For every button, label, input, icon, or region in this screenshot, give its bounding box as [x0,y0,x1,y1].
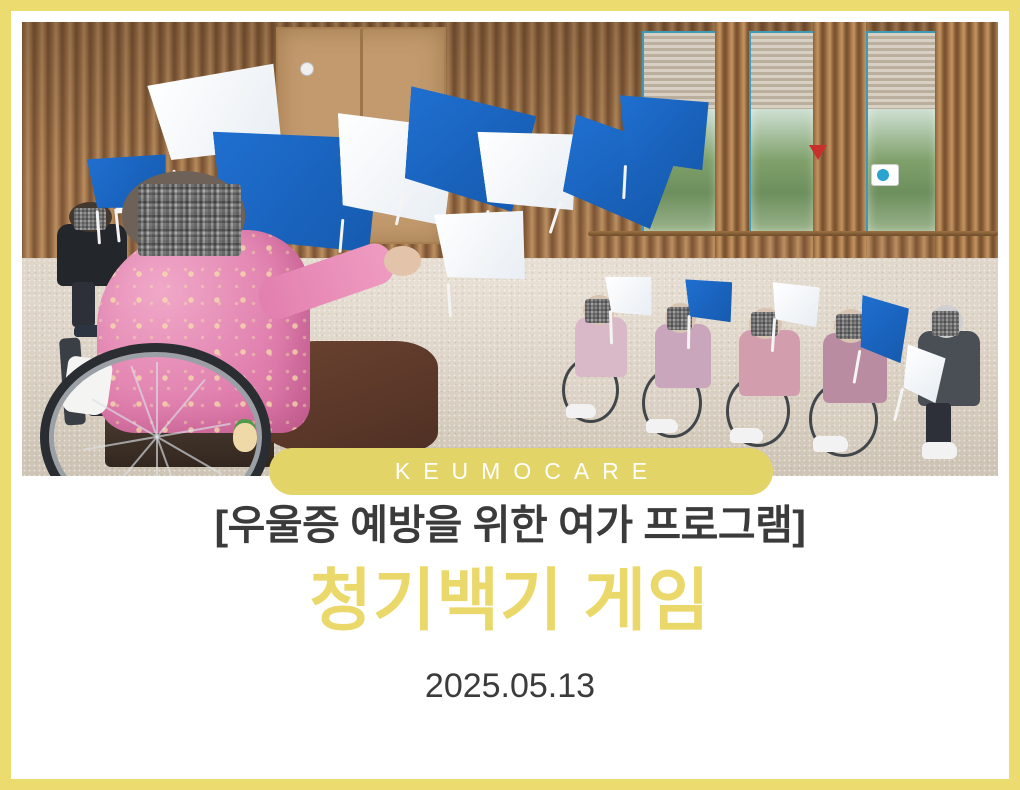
torso [575,317,628,377]
program-title: 청기백기 게임 [22,562,998,640]
program-subtitle: [우울증 예방을 위한 여가 프로그램] [22,501,998,550]
blurred-face [585,299,611,322]
hand-flag-white [902,344,947,403]
flag-cloth [902,344,947,403]
wheelchair-resident [637,281,730,426]
program-date: 2025.05.13 [22,666,998,707]
wall-handrail [588,231,998,236]
shoe [813,436,848,452]
flag-cloth [620,87,715,176]
torso [739,330,800,396]
seated-resident-right [900,285,998,448]
blurred-face [932,311,959,336]
wall-slat-panel [715,22,749,276]
wall-sign-icon [872,165,898,185]
torso [655,324,711,388]
window-right [866,31,938,235]
window-middle [749,31,816,235]
activity-photo [22,22,998,476]
shoe [922,442,957,458]
brand-badge-label: KEUMOCARE [382,460,660,483]
wheel-spoke [156,362,158,476]
wheelchair-resident [803,285,905,444]
wall-clock-icon [301,63,313,75]
warning-sign-icon [809,145,827,160]
wall-slat-panel [935,22,998,276]
shoe [646,419,678,434]
wheelchair-resident [559,276,647,412]
shoe [730,428,763,443]
flag-pole [687,315,691,349]
caption-block: [우울증 예방을 위한 여가 프로그램] 청기백기 게임 2025.05.13 [22,501,998,707]
foreground-resident [32,158,442,476]
window-blind [868,33,936,109]
brand-badge: KEUMOCARE [269,448,773,495]
window-blind [751,33,814,109]
blurred-face [138,184,240,256]
hand [384,246,421,275]
hand-flag-blue [620,87,715,176]
photo-scene [22,22,998,476]
activity-card: KEUMOCARE [우울증 예방을 위한 여가 프로그램] 청기백기 게임 2… [0,0,1020,790]
shoe [566,404,596,418]
